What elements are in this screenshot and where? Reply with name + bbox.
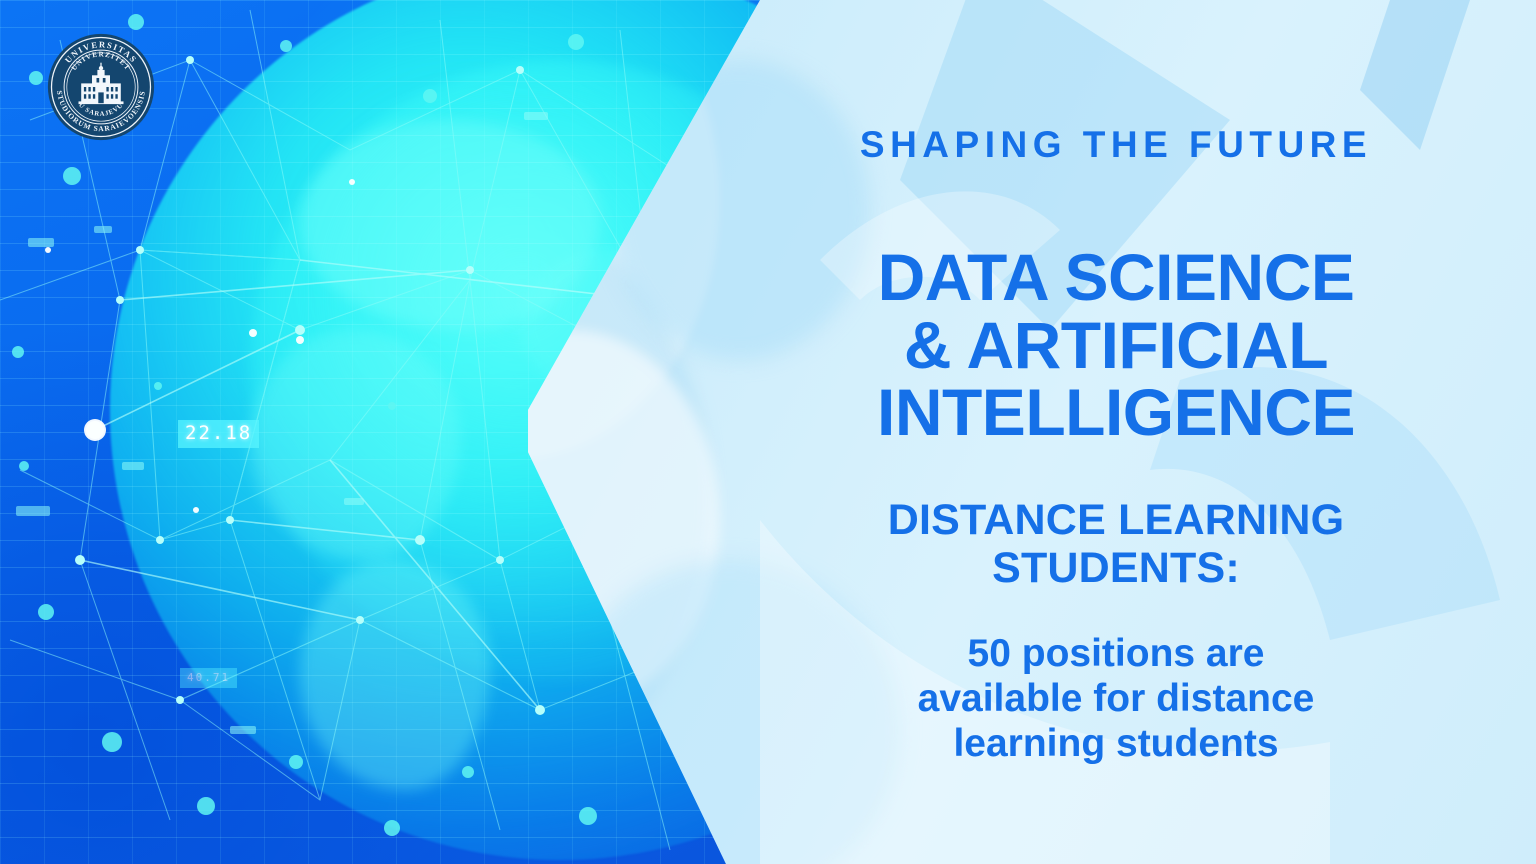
university-seal-logo: UNIVERSITAS STUDIORUM SARAIEVOENSIS UNIV… <box>47 33 155 141</box>
poster-copy: SHAPING THE FUTURE DATA SCIENCE & ARTIFI… <box>716 0 1516 864</box>
body-text: 50 positions are available for distance … <box>716 631 1516 767</box>
body-line-1: 50 positions are <box>716 631 1516 676</box>
subhead-line-1: DISTANCE LEARNING <box>716 496 1516 544</box>
poster-canvas: 22.18 40.71 UNIVERSITAS <box>0 0 1536 864</box>
eyebrow-text: SHAPING THE FUTURE <box>716 126 1516 163</box>
page-title: DATA SCIENCE & ARTIFICIAL INTELLIGENCE <box>716 244 1516 446</box>
title-line-1: DATA SCIENCE <box>716 244 1516 311</box>
title-line-3: INTELLIGENCE <box>716 379 1516 446</box>
subheading: DISTANCE LEARNING STUDENTS: <box>716 496 1516 592</box>
body-line-3: learning students <box>716 721 1516 766</box>
body-line-2: available for distance <box>716 676 1516 721</box>
title-line-2: & ARTIFICIAL <box>716 312 1516 379</box>
hud-readout-secondary: 40.71 <box>180 668 237 688</box>
subhead-line-2: STUDENTS: <box>716 544 1516 592</box>
hud-readout-primary: 22.18 <box>178 420 259 448</box>
